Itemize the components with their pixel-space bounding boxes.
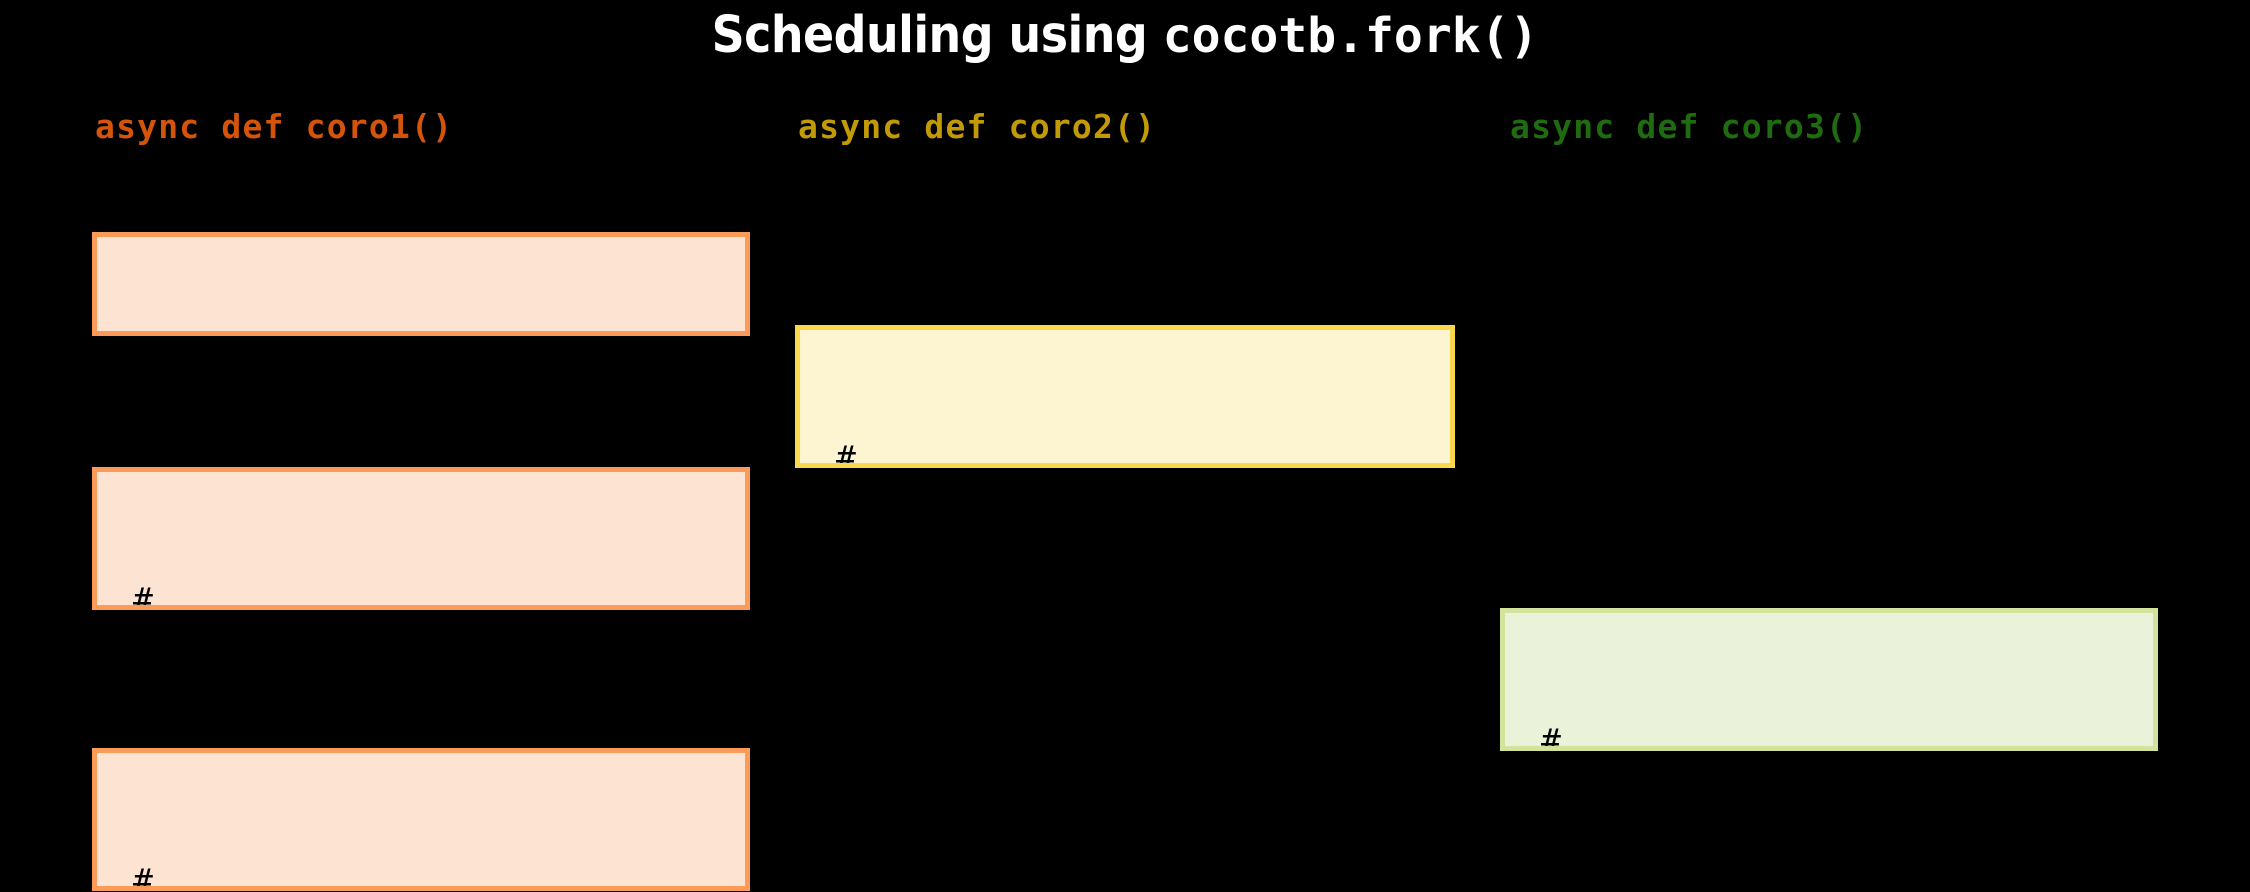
code-block-coro1-fork: cocotb.fork(coro2())	[92, 232, 750, 336]
column-header-coro2: async def coro2()	[798, 110, 1156, 143]
page-title-prose: Scheduling using	[712, 6, 1163, 65]
code-block-coro2-timer: # ... await Timer(1, units="ns")	[795, 325, 1455, 468]
page-title-code: cocotb.fork()	[1163, 8, 1539, 64]
column-header-coro1: async def coro1()	[95, 110, 453, 143]
column-header-coro3: async def coro3()	[1510, 110, 1868, 143]
code-line: # ...	[836, 436, 1450, 468]
code-line: # ...	[133, 859, 745, 891]
code-block-coro1-timer-1: # ... await Timer(1, units="ns")	[92, 467, 750, 610]
code-line: # ...	[1541, 719, 2153, 751]
slide-canvas: Scheduling using cocotb.fork() async def…	[0, 0, 2250, 892]
code-line: # ...	[133, 578, 745, 610]
page-title: Scheduling using cocotb.fork()	[0, 10, 2250, 61]
code-block-coro3-timer: # ... await Timer(1, units="ns")	[1500, 608, 2158, 751]
code-block-coro1-timer-2: # ... await Timer(1, units="ns")	[92, 748, 750, 891]
